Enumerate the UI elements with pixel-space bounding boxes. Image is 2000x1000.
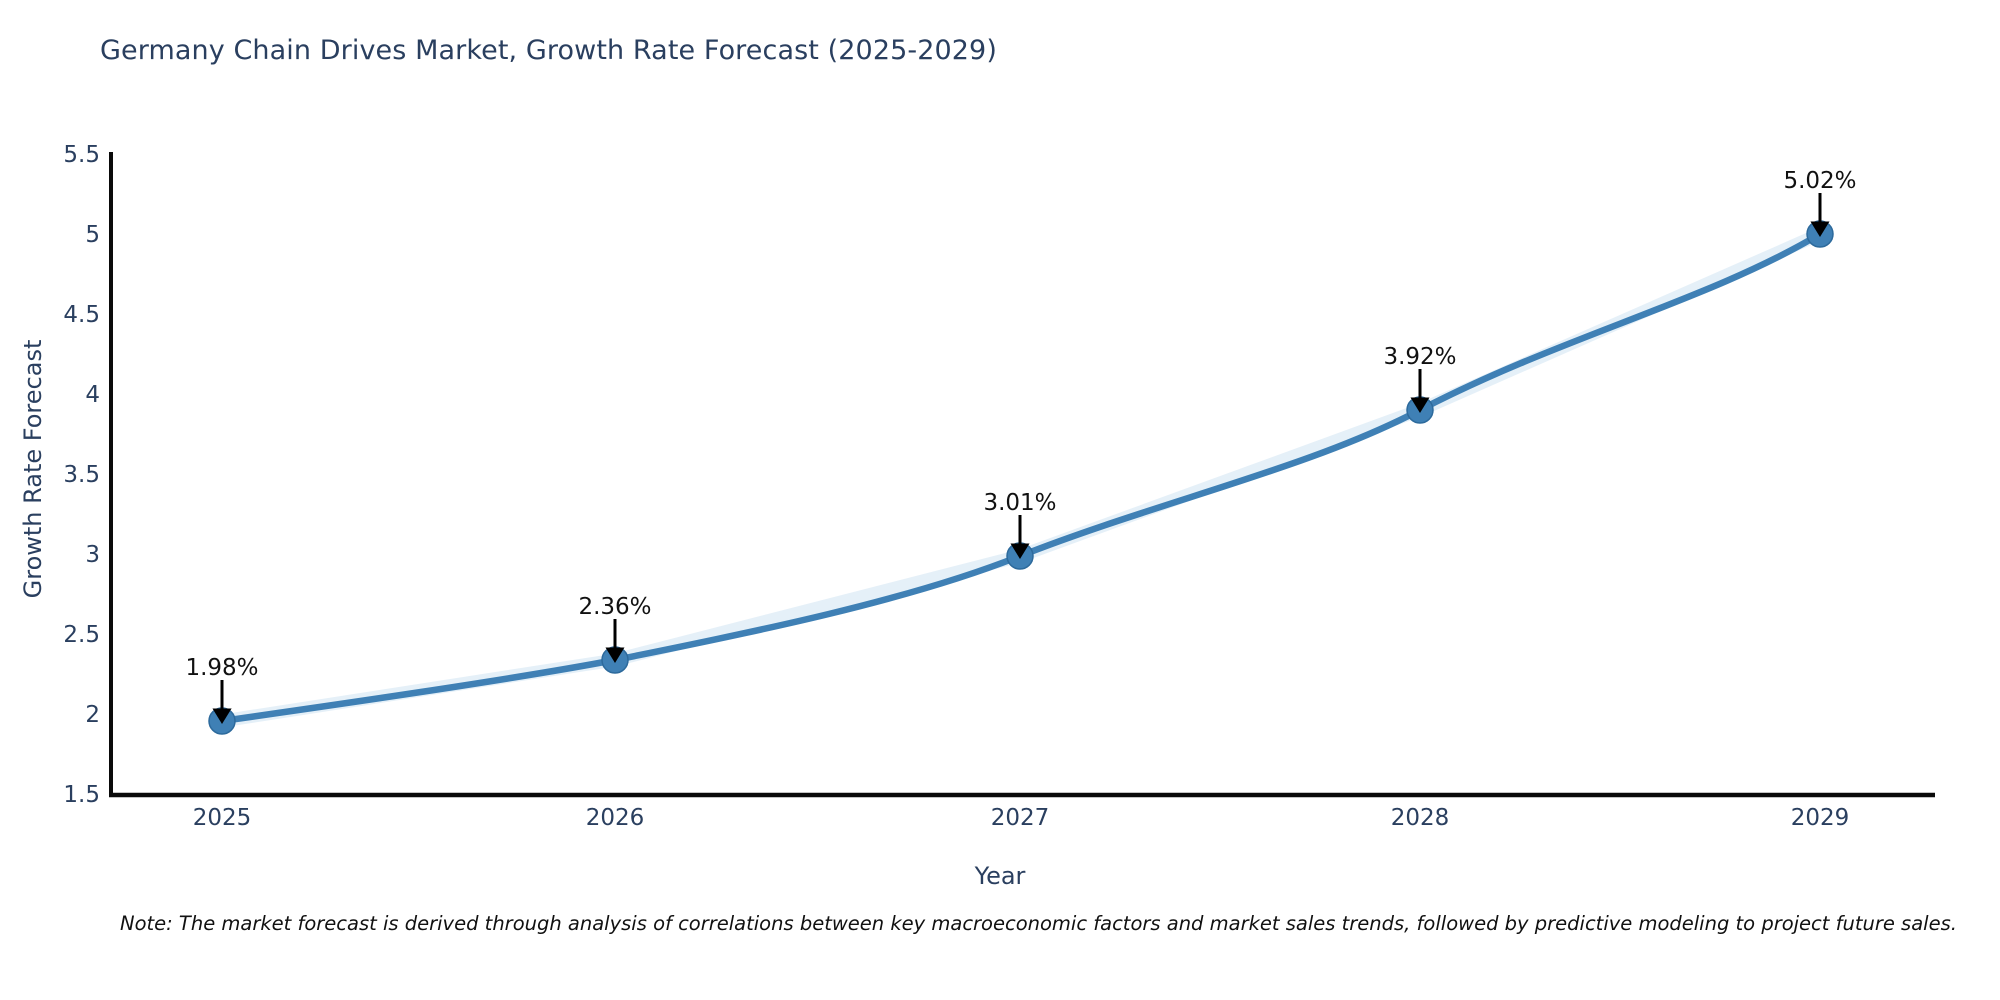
x-tick-label: 2025	[193, 805, 252, 831]
series-line	[222, 234, 1820, 721]
data-point-label: 3.92%	[1383, 344, 1456, 370]
x-tick-label: 2026	[586, 805, 645, 831]
data-point-label: 3.01%	[983, 490, 1056, 516]
data-point-label: 1.98%	[185, 655, 258, 681]
chart-footnote: Note: The market forecast is derived thr…	[120, 912, 1957, 935]
series-line-glow	[222, 234, 1820, 721]
x-tick-label: 2027	[991, 805, 1050, 831]
x-tick-label: 2029	[1791, 805, 1850, 831]
data-point-label: 5.02%	[1783, 168, 1856, 194]
x-axis-title: Year	[0, 862, 2000, 890]
chart-container: Germany Chain Drives Market, Growth Rate…	[0, 0, 2000, 1000]
data-point-label: 2.36%	[578, 594, 651, 620]
x-tick-label: 2028	[1391, 805, 1450, 831]
